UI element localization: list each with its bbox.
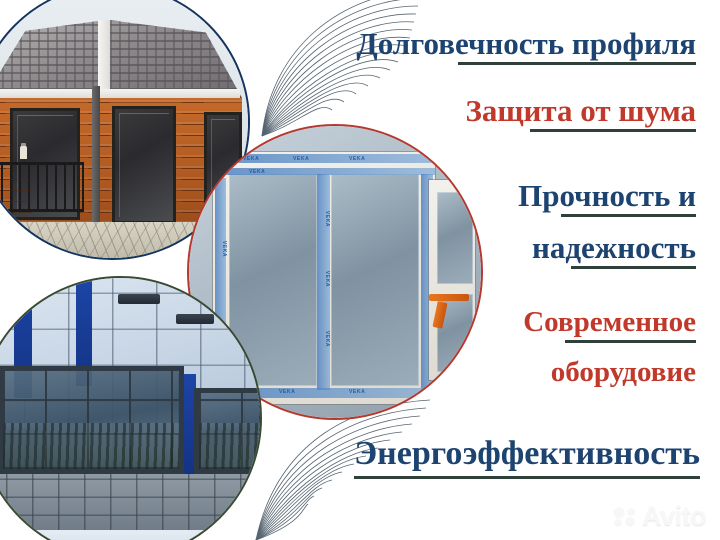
slogan-list: Долговечность профиля Защита от шума Про… <box>252 0 720 540</box>
slogan-text: Современное <box>523 308 696 337</box>
slogan-noise-protection: Защита от шума <box>466 95 697 132</box>
slogan-text: Долговечность профиля <box>356 28 696 59</box>
porch-pillar <box>6 172 32 224</box>
slogan-text: Энергоэффективность <box>354 437 700 471</box>
slogan-underline <box>561 214 696 217</box>
stone-plinth-band <box>0 474 260 534</box>
slogan-text: Защита от шума <box>466 95 697 126</box>
roof-ridge <box>98 20 110 94</box>
advertisement-banner: VEKA VEKA VEKA VEKA VEKA VEKA VEKA VEKA … <box>0 0 720 540</box>
slogan-text: надежность <box>532 232 696 263</box>
slogan-strength-line-2: надежность <box>532 232 696 269</box>
tree-reflection <box>3 423 179 469</box>
facade-vent-left <box>118 294 160 304</box>
slogan-underline <box>354 476 700 479</box>
tree-reflection <box>199 423 259 469</box>
photo-circle-modern-facade <box>0 276 262 540</box>
slogan-underline <box>571 266 696 269</box>
snow-ground <box>0 530 260 540</box>
slogan-underline <box>458 62 696 65</box>
facade-vent-right <box>176 314 214 324</box>
house-window-center <box>112 106 176 224</box>
slogan-strength-line-1: Прочность и <box>518 180 696 217</box>
slogan-text: Прочность и <box>518 180 696 211</box>
downpipe <box>92 86 100 226</box>
storefront-glazing-side <box>194 388 260 474</box>
slogan-text: оборудовие <box>551 358 696 387</box>
slogan-equipment-line-1: Современное <box>523 308 696 343</box>
slogan-underline <box>565 340 696 343</box>
slogan-underline <box>530 129 696 132</box>
slogan-energy-efficiency: Энергоэффективность <box>354 437 700 479</box>
slogan-equipment-line-2: оборудовие <box>551 358 696 387</box>
veka-brand-mark: VEKA <box>221 241 227 257</box>
wall-lamp <box>20 146 27 159</box>
modern-facade-scene <box>0 278 260 540</box>
slogan-durability: Долговечность профиля <box>356 28 696 65</box>
storefront-glazing-main <box>0 366 184 474</box>
